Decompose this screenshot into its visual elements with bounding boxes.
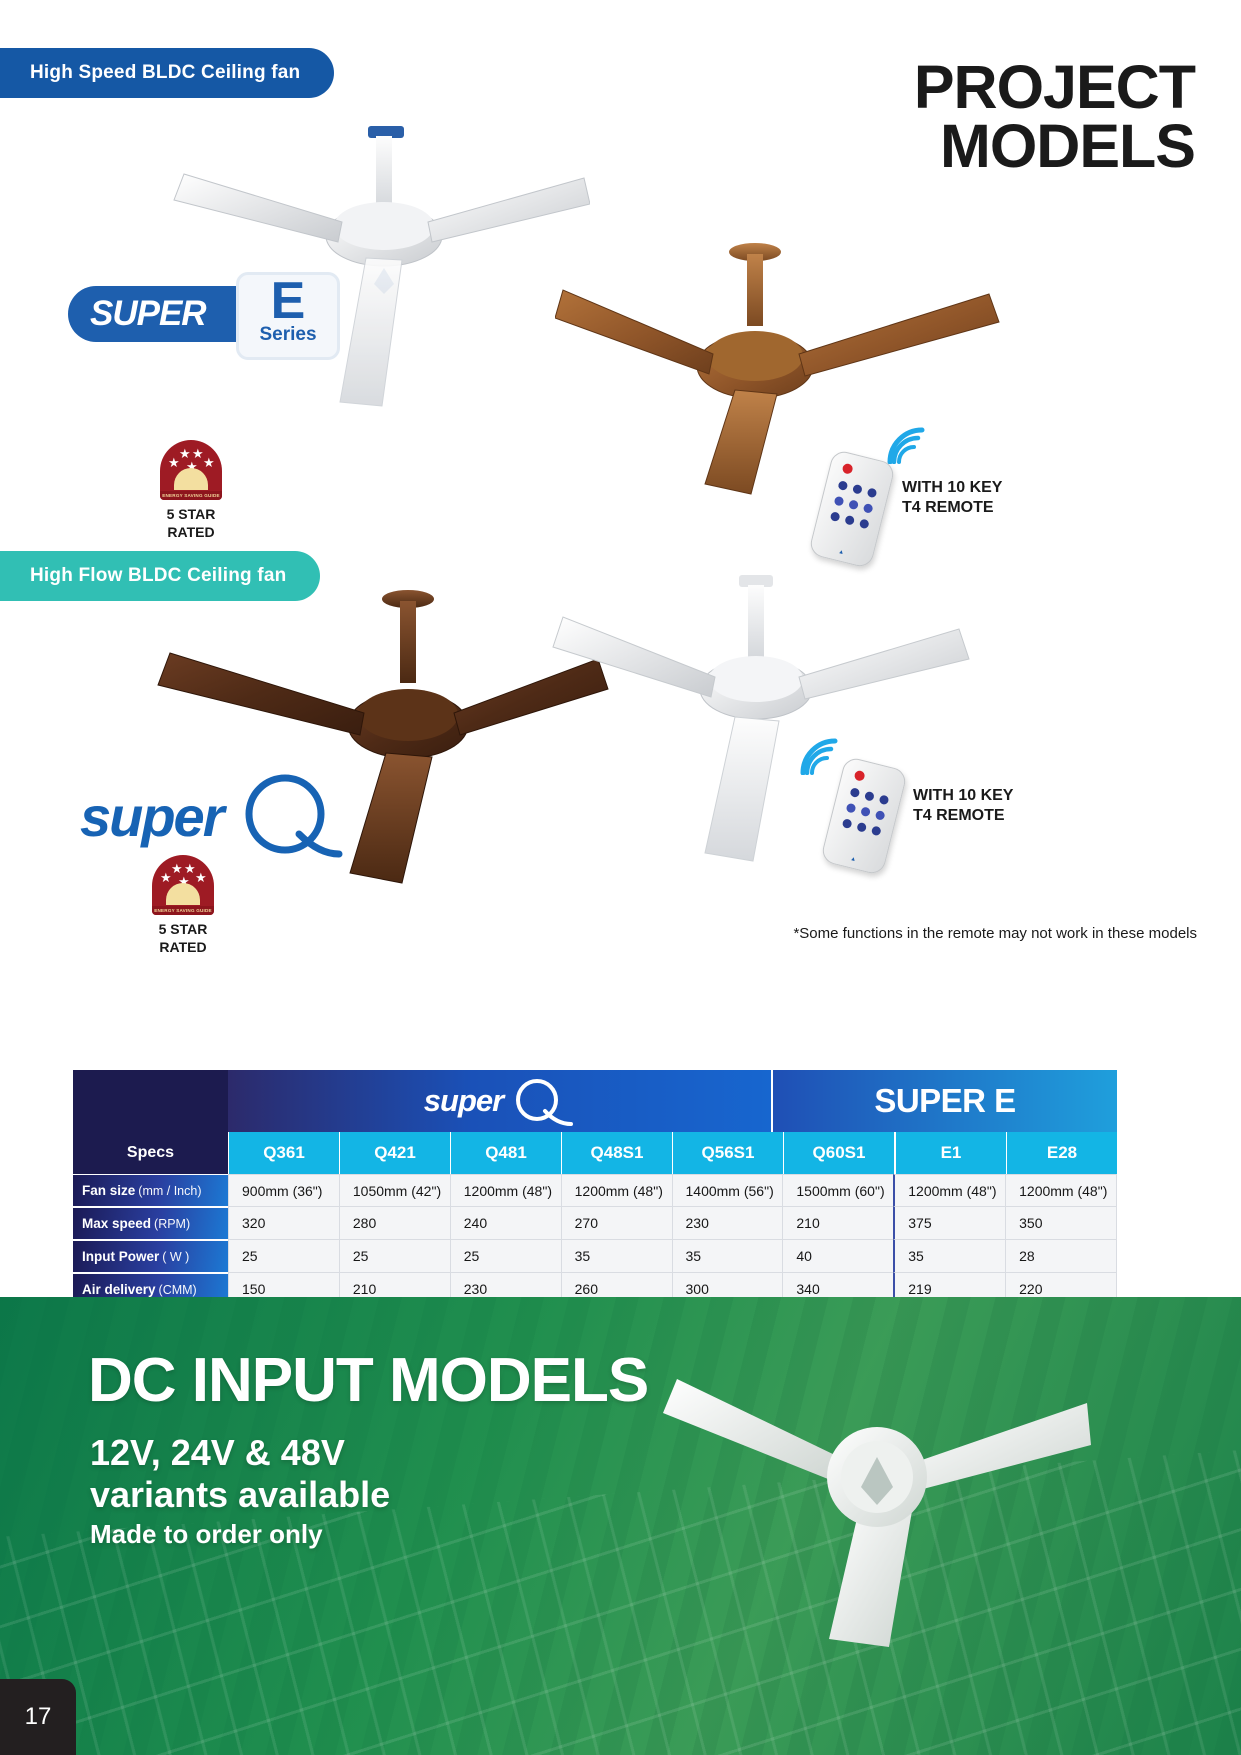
page-title-line1: PROJECT — [914, 58, 1195, 117]
logo-super-e-word: SUPER — [90, 294, 206, 334]
table-brand-super-e-word: SUPER E — [874, 1082, 1015, 1120]
cell: 1200mm (48") — [561, 1174, 672, 1207]
five-star-seal-2: ★ ★ ★ ★ ★ ENERGY SAVING GUIDE 5 STAR RAT… — [118, 855, 248, 956]
row-label-air-delivery-unit: (CMM) — [159, 1283, 197, 1297]
table-col-q421: Q421 — [339, 1132, 450, 1174]
cell: 1200mm (48") — [1005, 1174, 1117, 1207]
cell: 375 — [893, 1207, 1005, 1240]
ceiling-fan-brown-image — [555, 238, 1005, 498]
table-specs-header: Specs — [73, 1132, 228, 1174]
dc-banner-made-to-order: Made to order only — [90, 1519, 323, 1550]
seal-dome — [174, 468, 208, 490]
logo-super-q-letter — [237, 770, 345, 862]
row-label-air-delivery-text: Air delivery — [82, 1282, 156, 1297]
cell: 40 — [782, 1240, 893, 1273]
dc-banner-subtitle-line1: 12V, 24V & 48V — [90, 1432, 390, 1474]
page-title: PROJECT MODELS — [914, 58, 1195, 176]
seal-label-2-line1: 5 STAR — [118, 921, 248, 939]
ceiling-fan-dc-image — [661, 1349, 1091, 1654]
remote-footnote: *Some functions in the remote may not wo… — [793, 925, 1197, 942]
cell: 270 — [561, 1207, 672, 1240]
remote-caption-2: WITH 10 KEY T4 REMOTE — [913, 786, 1013, 826]
table-col-q56s1: Q56S1 — [672, 1132, 783, 1174]
remote-control-image-1: ▲ — [820, 455, 884, 563]
table-brand-super-q: super — [228, 1070, 771, 1132]
remote-caption-2-line2: T4 REMOTE — [913, 806, 1013, 826]
wifi-signal-icon-1 — [884, 424, 928, 469]
seal-band-text: ENERGY SAVING GUIDE — [160, 491, 222, 500]
table-col-e28: E28 — [1006, 1132, 1117, 1174]
energy-rating-seal-icon-2: ★ ★ ★ ★ ★ ENERGY SAVING GUIDE — [152, 855, 214, 915]
logo-super-e-letter: E — [271, 275, 306, 328]
remote-caption-1: WITH 10 KEY T4 REMOTE — [902, 478, 1002, 518]
logo-super-e: SUPER E Series — [68, 272, 340, 360]
badge-high-speed: High Speed BLDC Ceiling fan — [0, 48, 334, 98]
remote-brand-mark-2: ▲ — [822, 849, 884, 870]
dc-banner-subtitle-line2: variants available — [90, 1474, 390, 1516]
table-col-q481: Q481 — [450, 1132, 561, 1174]
logo-super-q-word: super — [80, 784, 223, 849]
seal-label-2-line2: RATED — [118, 939, 248, 957]
logo-super-e-box: E Series — [236, 272, 340, 360]
page-title-line2: MODELS — [914, 117, 1195, 176]
cell: 1500mm (60") — [782, 1174, 893, 1207]
cell: 35 — [561, 1240, 672, 1273]
seal-label-line2: RATED — [126, 524, 256, 542]
badge-high-flow-label: High Flow BLDC Ceiling fan — [30, 565, 286, 587]
row-label-max-speed-unit: (RPM) — [154, 1217, 190, 1231]
row-label-fan-size-unit: (mm / Inch) — [138, 1184, 201, 1198]
remote-caption-1-line2: T4 REMOTE — [902, 498, 1002, 518]
cell: 25 — [228, 1240, 339, 1273]
badge-high-speed-label: High Speed BLDC Ceiling fan — [30, 62, 300, 84]
cell: 230 — [672, 1207, 783, 1240]
cell: 25 — [339, 1240, 450, 1273]
cell: 1200mm (48") — [450, 1174, 561, 1207]
table-row: Max speed (RPM) 320 280 240 270 230 210 … — [73, 1207, 1117, 1240]
row-label-input-power-unit: ( W ) — [162, 1250, 189, 1264]
cell: 1200mm (48") — [893, 1174, 1005, 1207]
cell: 1400mm (56") — [672, 1174, 783, 1207]
cell: 1050mm (42") — [339, 1174, 450, 1207]
cell: 25 — [450, 1240, 561, 1273]
ceiling-fan-white-image — [170, 118, 590, 408]
remote-caption-2-line1: WITH 10 KEY — [913, 786, 1013, 806]
seal-dome-2 — [166, 883, 200, 905]
row-label-fan-size: Fan size (mm / Inch) — [73, 1174, 228, 1207]
remote-caption-1-line1: WITH 10 KEY — [902, 478, 1002, 498]
cell: 320 — [228, 1207, 339, 1240]
seal-label-1: 5 STAR RATED — [126, 506, 256, 541]
dc-banner-subtitle: 12V, 24V & 48V variants available — [90, 1432, 390, 1517]
remote-body-2: ▲ — [820, 756, 908, 876]
table-col-e1: E1 — [894, 1132, 1006, 1174]
cell: 28 — [1005, 1240, 1117, 1273]
cell: 240 — [450, 1207, 561, 1240]
cell: 280 — [339, 1207, 450, 1240]
table-row: Input Power ( W ) 25 25 25 35 35 40 35 2… — [73, 1240, 1117, 1273]
remote-brand-mark-1: ▲ — [810, 542, 872, 563]
seal-label-2: 5 STAR RATED — [118, 921, 248, 956]
ceiling-fan-white-image-2 — [545, 567, 975, 867]
cell: 35 — [672, 1240, 783, 1273]
table-row: Fan size (mm / Inch) 900mm (36") 1050mm … — [73, 1174, 1117, 1207]
row-label-input-power: Input Power ( W ) — [73, 1240, 228, 1273]
dc-input-models-banner: DC INPUT MODELS 12V, 24V & 48V variants … — [0, 1297, 1241, 1755]
table-column-header-row: Specs Q361 Q421 Q481 Q48S1 Q56S1 Q60S1 E… — [73, 1132, 1117, 1174]
table-col-q361: Q361 — [228, 1132, 339, 1174]
cell: 210 — [782, 1207, 893, 1240]
remote-control-image-2: ▲ — [832, 762, 896, 870]
table-brand-blank-cell — [73, 1070, 228, 1132]
row-label-input-power-text: Input Power — [82, 1249, 159, 1264]
remote-body-1: ▲ — [808, 449, 896, 569]
table-brand-row: super SUPER E — [73, 1070, 1117, 1132]
cell: 35 — [893, 1240, 1005, 1273]
logo-super-q: super — [80, 770, 345, 862]
energy-rating-seal-icon: ★ ★ ★ ★ ★ ENERGY SAVING GUIDE — [160, 440, 222, 500]
table-col-q60s1: Q60S1 — [783, 1132, 894, 1174]
five-star-seal-1: ★ ★ ★ ★ ★ ENERGY SAVING GUIDE 5 STAR RAT… — [126, 440, 256, 541]
row-label-max-speed-text: Max speed — [82, 1216, 151, 1231]
table-brand-q-icon — [511, 1076, 575, 1126]
logo-super-e-series: Series — [259, 324, 316, 346]
table-brand-super-e: SUPER E — [771, 1070, 1117, 1132]
page-number: 17 — [0, 1679, 76, 1755]
dc-banner-title: DC INPUT MODELS — [88, 1345, 648, 1416]
table-col-q48s1: Q48S1 — [561, 1132, 672, 1174]
table-brand-super-q-word: super — [424, 1083, 503, 1119]
row-label-fan-size-text: Fan size — [82, 1183, 135, 1198]
row-label-max-speed: Max speed (RPM) — [73, 1207, 228, 1240]
cell: 350 — [1005, 1207, 1117, 1240]
cell: 900mm (36") — [228, 1174, 339, 1207]
seal-label-line1: 5 STAR — [126, 506, 256, 524]
seal-band-text-2: ENERGY SAVING GUIDE — [152, 906, 214, 915]
